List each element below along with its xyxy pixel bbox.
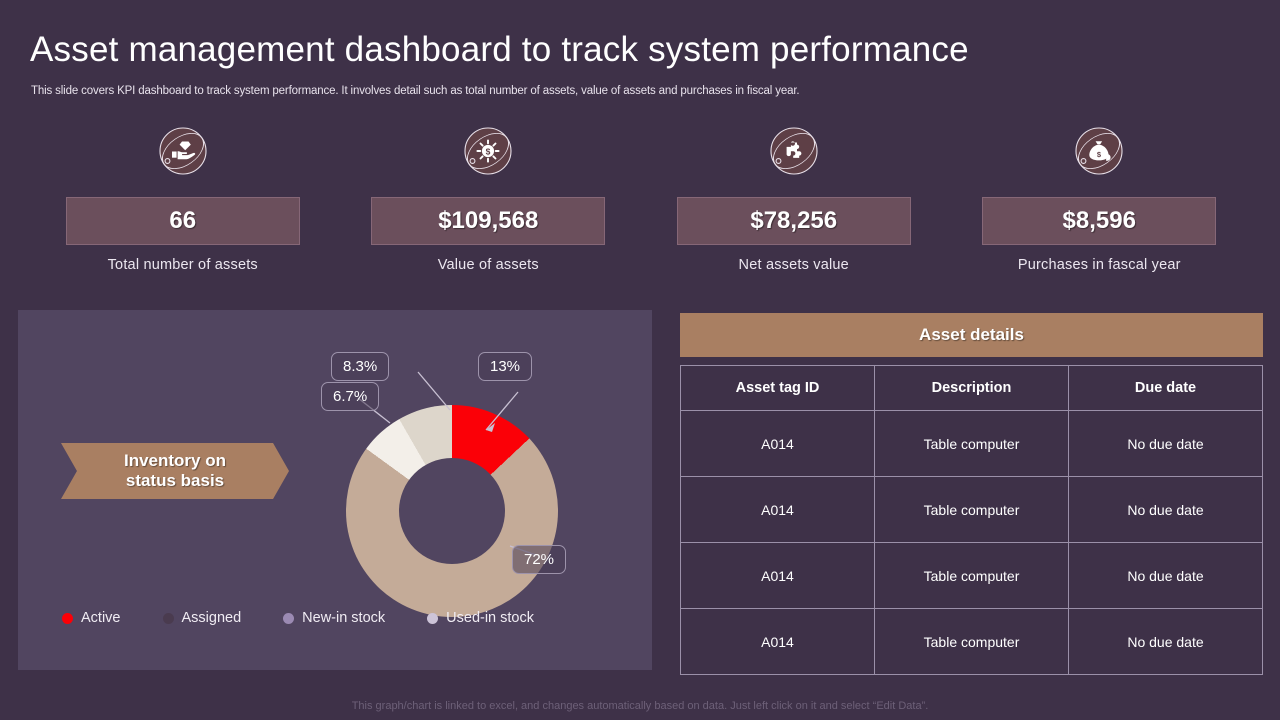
- table-row: A014Table computerNo due date: [681, 411, 1263, 477]
- column-header-due-date: Due date: [1069, 366, 1263, 411]
- chart-banner: Inventory on status basis: [61, 443, 289, 499]
- cell-asset-tag-id: A014: [681, 543, 875, 609]
- kpi-value-box: $109,568: [371, 197, 605, 245]
- dollar-sun-icon: $: [457, 120, 519, 182]
- cell-description: Table computer: [875, 477, 1069, 543]
- puzzle-piece-icon: [763, 120, 825, 182]
- cell-asset-tag-id: A014: [681, 477, 875, 543]
- legend-item-used-in-stock[interactable]: Used-in stock: [427, 610, 534, 626]
- callout-assigned: 72%: [512, 545, 566, 574]
- cell-description: Table computer: [875, 609, 1069, 675]
- kpi-value-box: $8,596: [982, 197, 1216, 245]
- kpi-label: Purchases in fascal year: [1018, 257, 1181, 273]
- kpi-value-box: 66: [66, 197, 300, 245]
- kpi-value-box: $78,256: [677, 197, 911, 245]
- table-body: A014Table computerNo due dateA014Table c…: [681, 411, 1263, 675]
- cell-due-date: No due date: [1069, 543, 1263, 609]
- table-row: A014Table computerNo due date: [681, 543, 1263, 609]
- kpi-label: Value of assets: [438, 257, 539, 273]
- kpi-value: $78,256: [750, 207, 837, 235]
- kpi-value: $109,568: [438, 207, 538, 235]
- cell-description: Table computer: [875, 543, 1069, 609]
- kpi-label: Net assets value: [739, 257, 849, 273]
- kpi-card-purchases: $ $8,596 Purchases in fascal year: [947, 120, 1253, 290]
- legend-swatch: [163, 613, 174, 624]
- kpi-card-total-assets: 66 Total number of assets: [30, 120, 336, 290]
- chart-legend: Active Assigned New-in stock Used-in sto…: [62, 610, 622, 626]
- cell-due-date: No due date: [1069, 477, 1263, 543]
- cell-asset-tag-id: A014: [681, 411, 875, 477]
- inventory-chart-panel: Inventory on status basis 8.3% 6.7% 13% …: [18, 310, 652, 670]
- chart-banner-line2: status basis: [124, 471, 226, 491]
- callout-active: 13%: [478, 352, 532, 381]
- cell-due-date: No due date: [1069, 411, 1263, 477]
- cell-due-date: No due date: [1069, 609, 1263, 675]
- legend-item-assigned[interactable]: Assigned: [163, 610, 242, 626]
- inventory-donut-chart[interactable]: [346, 405, 558, 617]
- donut-hole: [399, 458, 505, 564]
- kpi-card-net-assets-value: $78,256 Net assets value: [641, 120, 947, 290]
- kpi-value: 66: [169, 207, 196, 235]
- svg-text:$: $: [486, 146, 491, 156]
- footer-note: This graph/chart is linked to excel, and…: [0, 700, 1280, 712]
- legend-label: Active: [81, 610, 121, 626]
- legend-swatch: [62, 613, 73, 624]
- table-row: A014Table computerNo due date: [681, 609, 1263, 675]
- asset-details-table: Asset details Asset tag ID Description D…: [680, 313, 1263, 675]
- kpi-card-value-of-assets: $ $109,568 Value of assets: [336, 120, 642, 290]
- column-header-asset-tag-id: Asset tag ID: [681, 366, 875, 411]
- legend-swatch: [427, 613, 438, 624]
- table-title: Asset details: [680, 313, 1263, 357]
- asset-table: Asset tag ID Description Due date A014Ta…: [680, 365, 1263, 675]
- cell-description: Table computer: [875, 411, 1069, 477]
- hand-diamond-icon: [152, 120, 214, 182]
- table-row: A014Table computerNo due date: [681, 477, 1263, 543]
- chart-banner-line1: Inventory on: [124, 451, 226, 471]
- kpi-row: 66 Total number of assets $: [30, 120, 1252, 290]
- kpi-value: $8,596: [1063, 207, 1136, 235]
- legend-label: Assigned: [182, 610, 242, 626]
- legend-item-active[interactable]: Active: [62, 610, 121, 626]
- column-header-description: Description: [875, 366, 1069, 411]
- legend-label: Used-in stock: [446, 610, 534, 626]
- cell-asset-tag-id: A014: [681, 609, 875, 675]
- callout-new-in-stock: 6.7%: [321, 382, 379, 411]
- slide: Asset management dashboard to track syst…: [0, 0, 1280, 720]
- legend-swatch: [283, 613, 294, 624]
- page-subtitle: This slide covers KPI dashboard to track…: [31, 85, 1181, 97]
- money-bag-icon: $: [1068, 120, 1130, 182]
- legend-label: New-in stock: [302, 610, 385, 626]
- table-header-row: Asset tag ID Description Due date: [681, 366, 1263, 411]
- callout-used-in-stock: 8.3%: [331, 352, 389, 381]
- legend-item-new-in-stock[interactable]: New-in stock: [283, 610, 385, 626]
- page-title: Asset management dashboard to track syst…: [30, 30, 1250, 70]
- kpi-label: Total number of assets: [108, 257, 258, 273]
